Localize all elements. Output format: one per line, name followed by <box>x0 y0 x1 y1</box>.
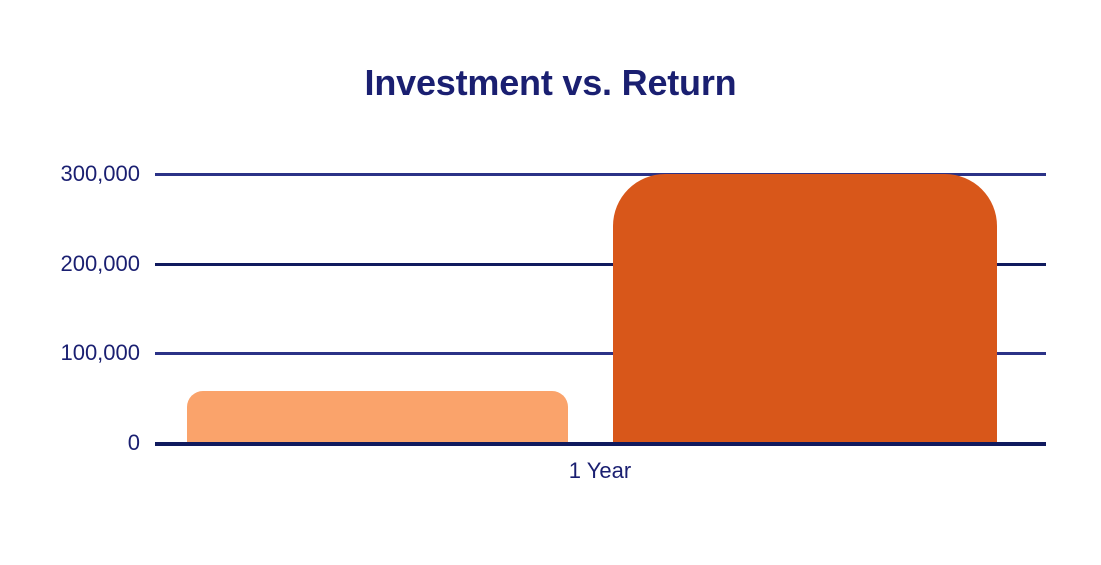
x-tick-label-1-year: 1 Year <box>490 458 710 484</box>
bar-return[interactable] <box>613 174 997 443</box>
x-axis-baseline <box>155 442 1046 446</box>
plot-area: 300,000 200,000 100,000 0 1 Year <box>0 0 1101 565</box>
y-tick-label-0: 0 <box>30 432 140 454</box>
y-tick-label-200000: 200,000 <box>30 253 140 275</box>
bar-investment[interactable] <box>187 391 568 443</box>
y-tick-label-100000: 100,000 <box>30 342 140 364</box>
chart-container: Investment vs. Return 300,000 200,000 10… <box>0 0 1101 565</box>
y-tick-label-300000: 300,000 <box>30 163 140 185</box>
